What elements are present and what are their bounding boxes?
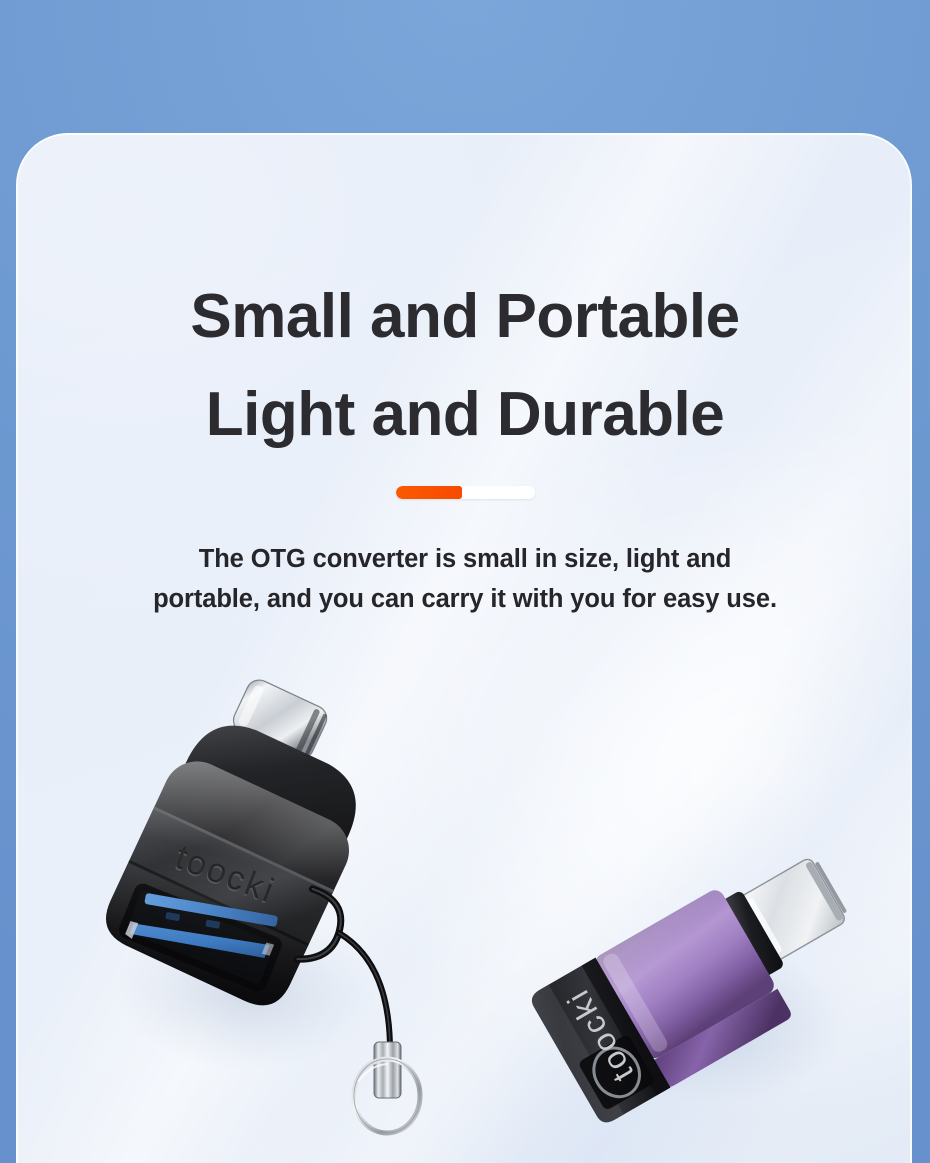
page-description: The OTG converter is small in size, ligh… <box>85 539 845 619</box>
page-title-line-1: Small and Portable <box>0 268 930 366</box>
purple-otg-adapter: toocki <box>520 840 900 1163</box>
page-description-line-1: The OTG converter is small in size, ligh… <box>85 539 845 579</box>
page-description-line-2: portable, and you can carry it with you … <box>85 579 845 619</box>
banner-stage: Small and Portable Light and Durable The… <box>0 0 930 1163</box>
page-title-line-2: Light and Durable <box>0 366 930 464</box>
accent-divider <box>396 486 535 499</box>
accent-divider-fill <box>396 486 463 499</box>
page-title: Small and Portable Light and Durable <box>0 0 930 464</box>
copy-block: Small and Portable Light and Durable The… <box>0 0 930 619</box>
lanyard-crimp <box>374 1042 401 1098</box>
black-otg-adapter: toocki toocki <box>96 690 476 1163</box>
